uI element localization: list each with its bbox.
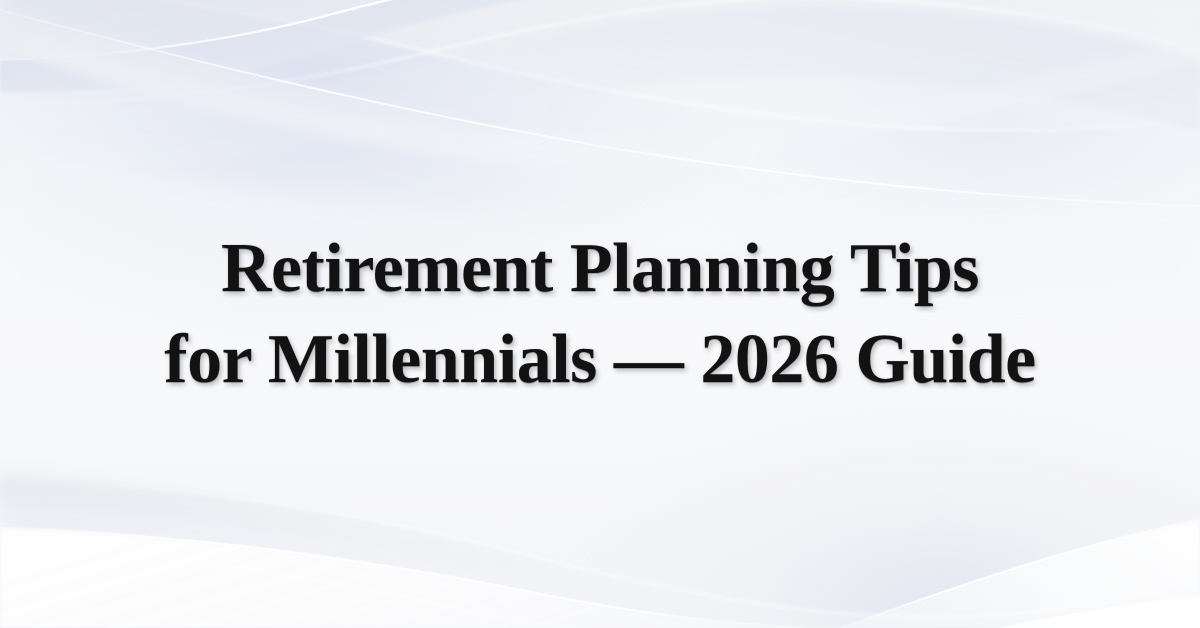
og-card: Retirement Planning Tipsfor Millennials … bbox=[0, 0, 1200, 628]
page-title: Retirement Planning Tipsfor Millennials … bbox=[164, 223, 1035, 405]
page-title-line-1: Retirement Planning Tips bbox=[221, 230, 979, 307]
page-title-line-2: for Millennials — 2026 Guide bbox=[164, 321, 1035, 398]
headline-container: Retirement Planning Tipsfor Millennials … bbox=[0, 0, 1200, 628]
